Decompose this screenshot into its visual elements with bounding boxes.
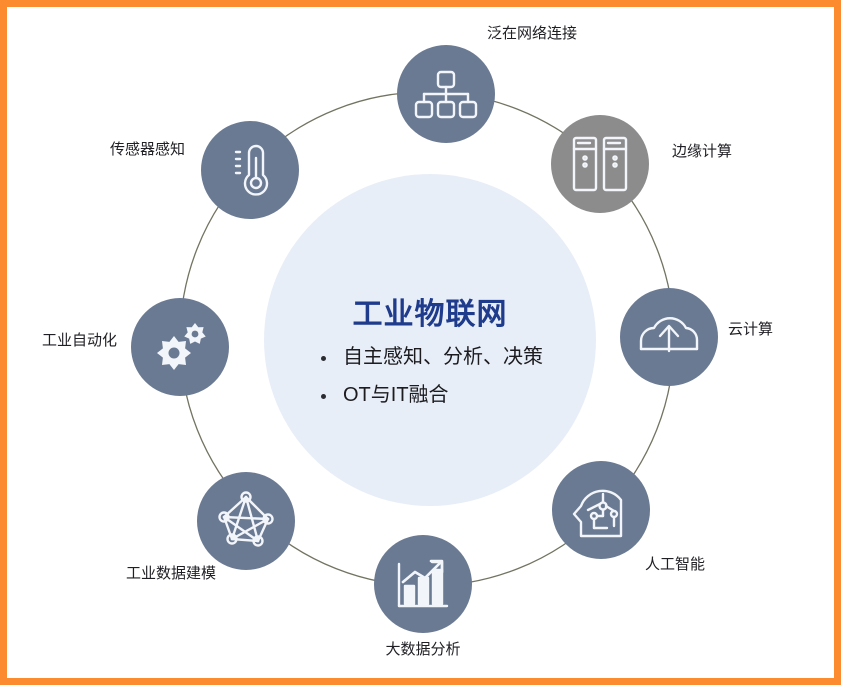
node-sensor-perception[interactable] bbox=[201, 121, 299, 219]
node-edge-computing[interactable] bbox=[551, 115, 649, 213]
diagram-stage bbox=[0, 0, 841, 685]
node-artificial-intelligence[interactable] bbox=[552, 461, 650, 559]
diagram-canvas: 工业物联网 自主感知、分析、决策OT与IT融合 泛在网络连接边缘计算云计算人工智… bbox=[0, 0, 841, 685]
center-disc bbox=[264, 174, 596, 506]
node-cloud-computing[interactable] bbox=[620, 288, 718, 386]
node-big-data-analysis[interactable] bbox=[374, 535, 472, 633]
node-circle[interactable] bbox=[197, 472, 295, 570]
node-industrial-automation[interactable] bbox=[131, 298, 229, 396]
node-ubiquitous-network[interactable] bbox=[397, 45, 495, 143]
node-industrial-data-modeling[interactable] bbox=[197, 472, 295, 570]
node-circle[interactable] bbox=[551, 115, 649, 213]
